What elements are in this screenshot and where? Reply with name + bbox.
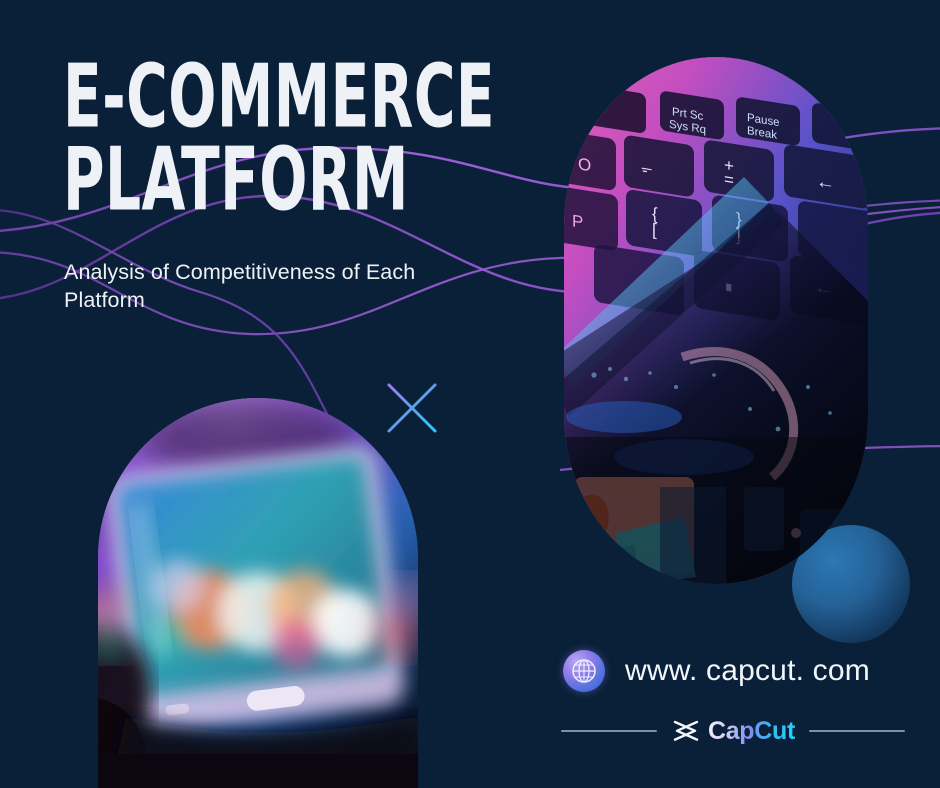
divider-right xyxy=(809,730,905,732)
capcut-brandmark[interactable]: CapCut xyxy=(671,718,795,744)
website-row[interactable]: www. capcut. com xyxy=(563,650,870,692)
website-url-text[interactable]: www. capcut. com xyxy=(625,654,870,688)
keyboard-photo: Prt Sc Sys Rq Pause Break O _ xyxy=(564,57,868,584)
svg-text:P: P xyxy=(572,211,583,232)
keyboard-photo-arch: Prt Sc Sys Rq Pause Break O _ xyxy=(564,57,868,584)
brand-row: CapCut xyxy=(563,713,903,749)
subtitle-text: Analysis of Competitiveness of Each Plat… xyxy=(64,258,464,315)
svg-text:[: [ xyxy=(652,220,657,240)
svg-text:=: = xyxy=(724,169,734,189)
capcut-wordmark: CapCut xyxy=(708,719,795,744)
svg-text:-: - xyxy=(642,160,648,180)
headline-block: E-COMMERCE PLATFORM xyxy=(63,55,513,221)
svg-text:O: O xyxy=(578,154,591,175)
capcut-wordmark-part1: Cap xyxy=(708,717,754,745)
phone-photo-arch xyxy=(98,398,418,788)
capcut-logo-icon xyxy=(671,718,701,744)
poster-canvas: E-COMMERCE PLATFORM Analysis of Competit… xyxy=(0,0,940,788)
capcut-wordmark-part2: Cut xyxy=(754,717,795,745)
headline-line-1: E-COMMERCE xyxy=(63,55,486,139)
divider-left xyxy=(561,730,657,732)
globe-icon xyxy=(563,650,605,692)
svg-text:←: ← xyxy=(816,171,835,195)
headline-line-2: PLATFORM xyxy=(63,138,486,222)
phone-photo xyxy=(98,398,418,788)
eight-point-sparkle-icon xyxy=(376,372,448,444)
